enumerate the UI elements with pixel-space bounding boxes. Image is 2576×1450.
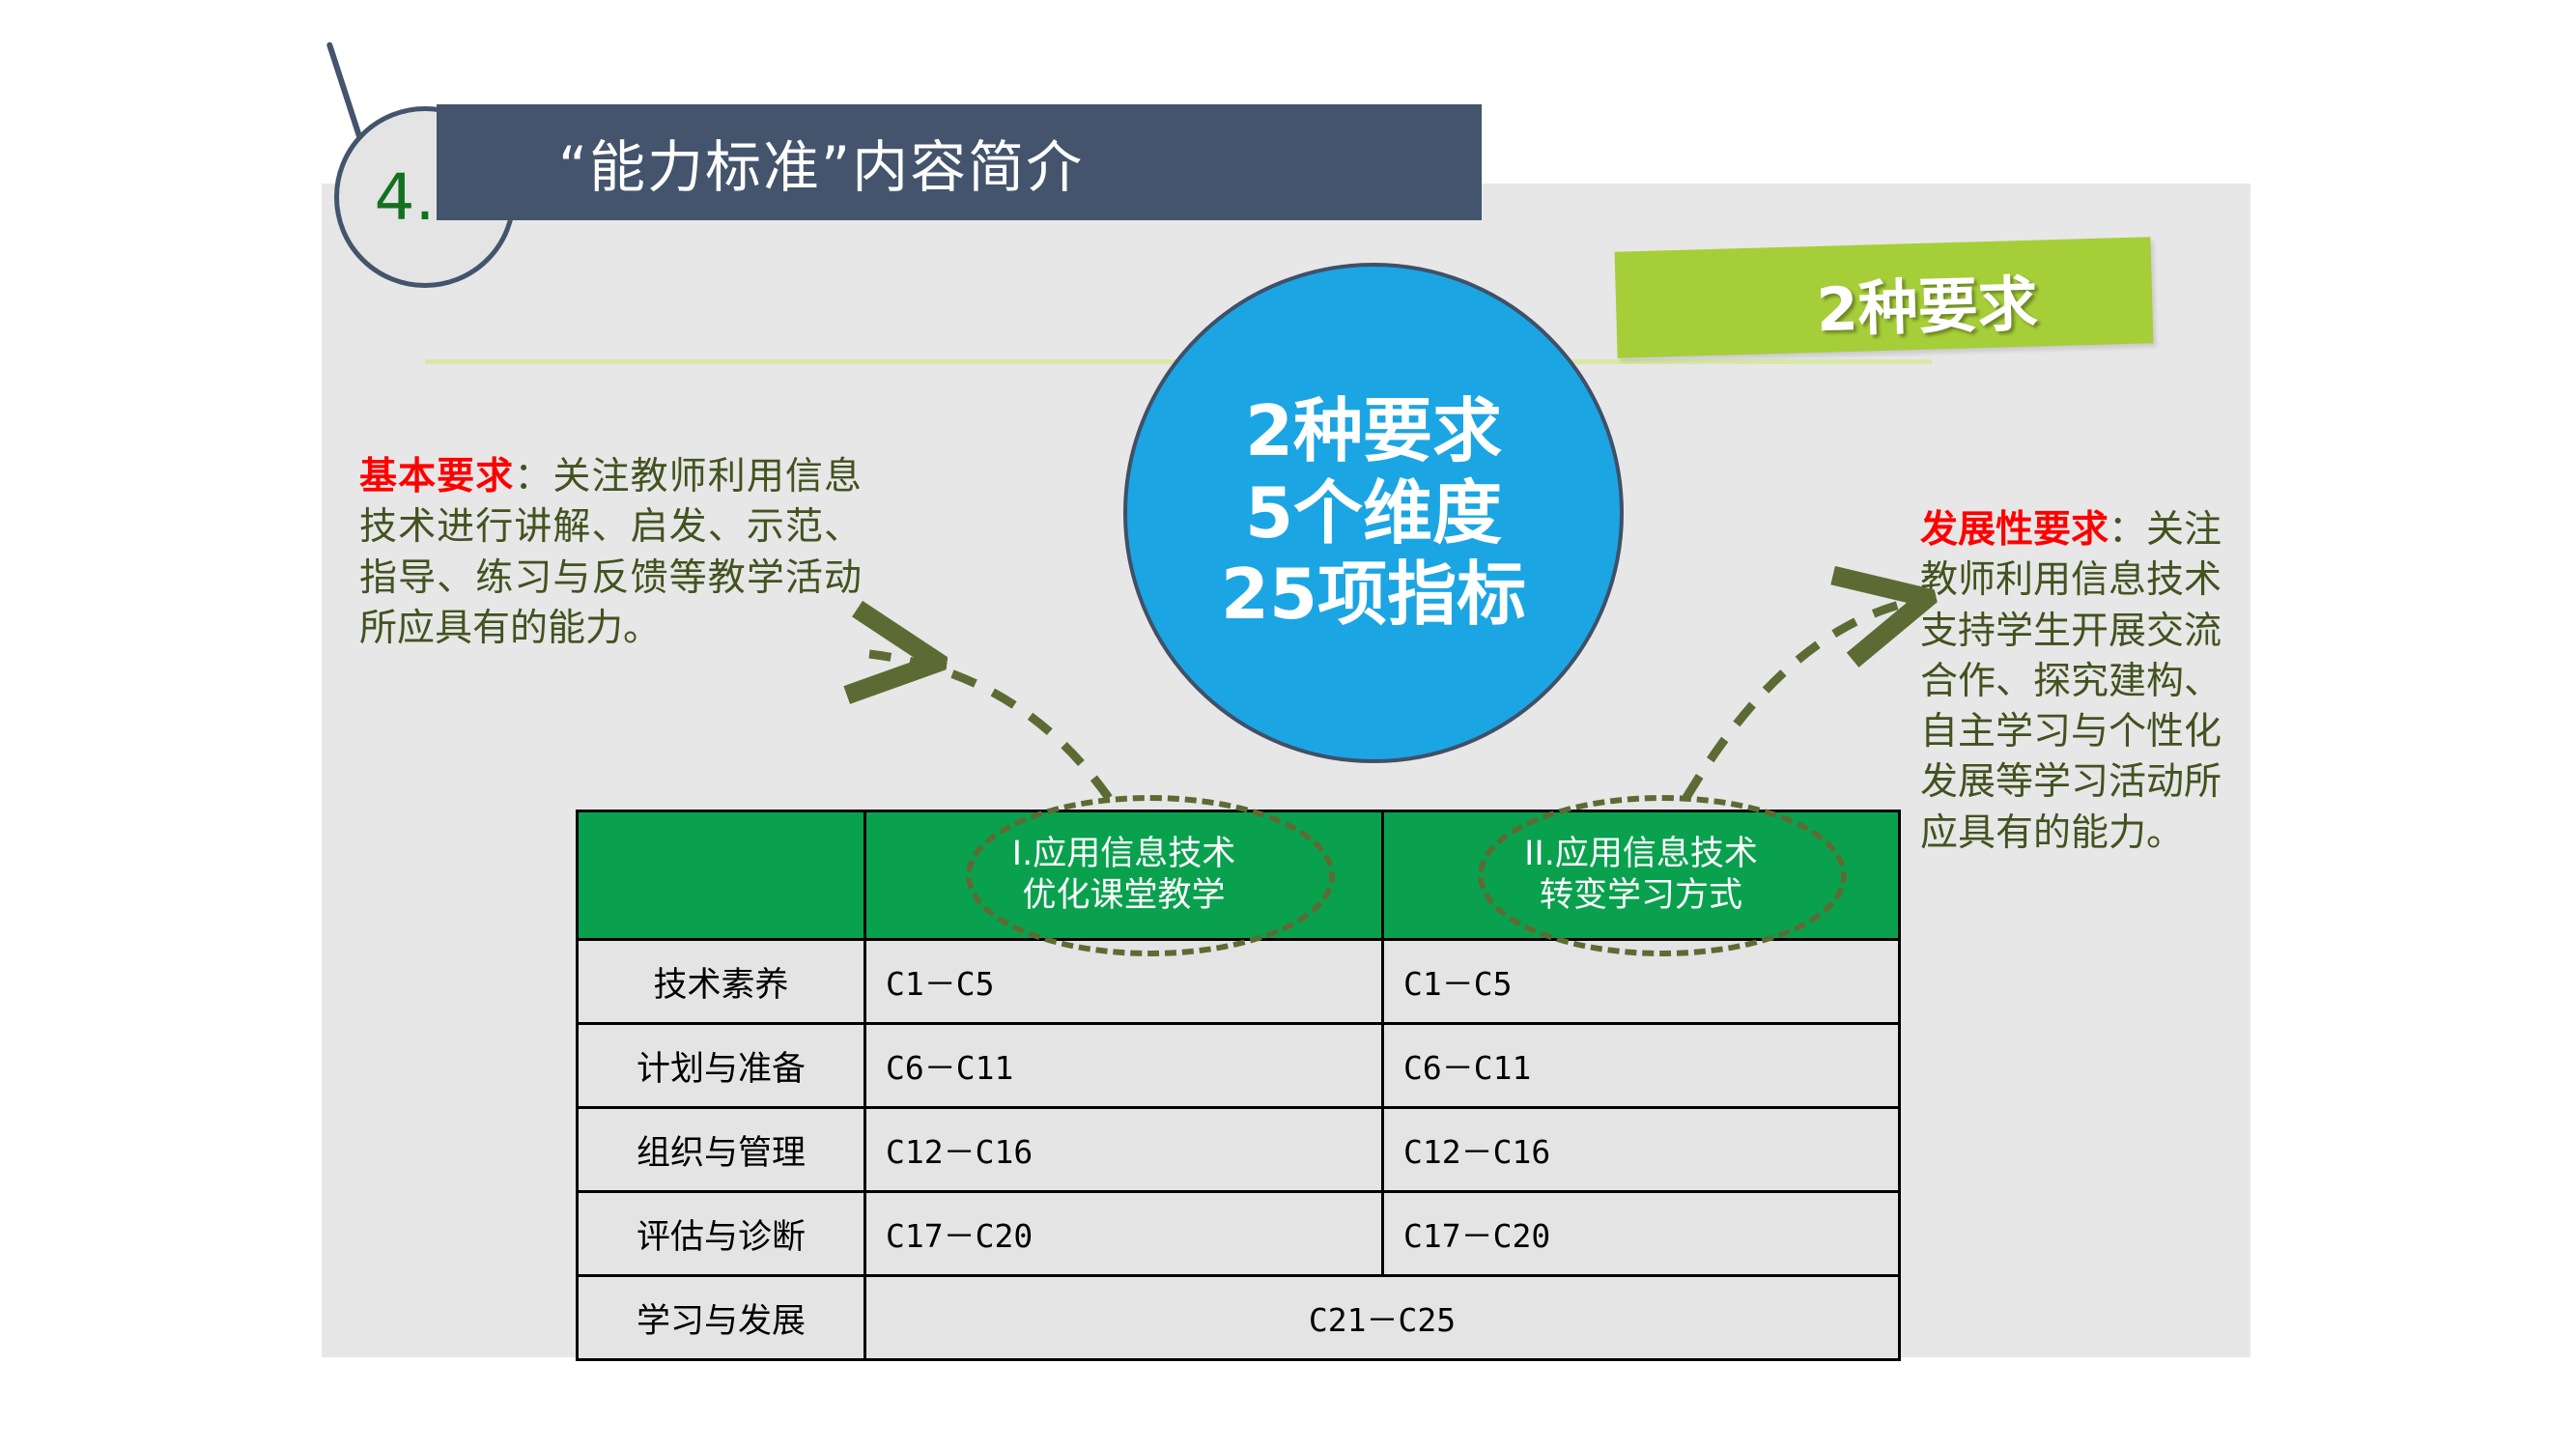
table-row-label: 技术素养 bbox=[578, 940, 865, 1024]
summary-circle: 2种要求 5个维度 25项指标 bbox=[1123, 263, 1624, 763]
table-row-label: 学习与发展 bbox=[578, 1276, 865, 1360]
table-cell-col-2: C12－C16 bbox=[1383, 1108, 1900, 1192]
table-cell-col-1: C6－C11 bbox=[865, 1024, 1383, 1108]
banner-label: 2种要求 bbox=[1699, 246, 2156, 355]
developmental-requirement-heading: 发展性要求 bbox=[1920, 508, 2109, 552]
table-cell-col-1: C12－C16 bbox=[865, 1108, 1383, 1192]
table-row: 组织与管理 C12－C16 C12－C16 bbox=[578, 1108, 1900, 1192]
summary-line-1: 2种要求 bbox=[1245, 390, 1502, 472]
developmental-requirement-separator: ： bbox=[2109, 508, 2146, 552]
header-highlight-ellipse-left bbox=[966, 795, 1335, 956]
developmental-requirement-body: 关注教师利用信息技术支持学生开展交流合作、探究建构、自主学习与个性化发展等学习活… bbox=[1920, 508, 2222, 855]
developmental-requirement-note: 发展性要求：关注教师利用信息技术支持学生开展交流合作、探究建构、自主学习与个性化… bbox=[1920, 505, 2239, 859]
table-cell-col-2: C17－C20 bbox=[1383, 1192, 1900, 1276]
table-cell-span: C21－C25 bbox=[865, 1276, 1900, 1360]
basic-requirement-separator: ： bbox=[514, 455, 552, 498]
table-row-label: 计划与准备 bbox=[578, 1024, 865, 1108]
header-highlight-ellipse-right bbox=[1478, 795, 1847, 956]
table-cell-col-2: C6－C11 bbox=[1383, 1024, 1900, 1108]
summary-line-3: 25项指标 bbox=[1221, 554, 1526, 636]
table-header-corner bbox=[578, 811, 865, 940]
table-row: 计划与准备 C6－C11 C6－C11 bbox=[578, 1024, 1900, 1108]
table-cell-col-1: C17－C20 bbox=[865, 1192, 1383, 1276]
table-row-label: 组织与管理 bbox=[578, 1108, 865, 1192]
table-row: 评估与诊断 C17－C20 C17－C20 bbox=[578, 1192, 1900, 1276]
slide-title-bar: “能力标准”内容简介 bbox=[437, 104, 1482, 220]
page-title: “能力标准”内容简介 bbox=[558, 122, 1084, 203]
basic-requirement-heading: 基本要求 bbox=[359, 455, 514, 498]
table-row: 学习与发展 C21－C25 bbox=[578, 1276, 1900, 1360]
table-row-label: 评估与诊断 bbox=[578, 1192, 865, 1276]
basic-requirement-note: 基本要求：关注教师利用信息技术进行讲解、启发、示范、指导、练习与反馈等教学活动所… bbox=[359, 452, 862, 654]
summary-line-2: 5个维度 bbox=[1245, 472, 1502, 554]
